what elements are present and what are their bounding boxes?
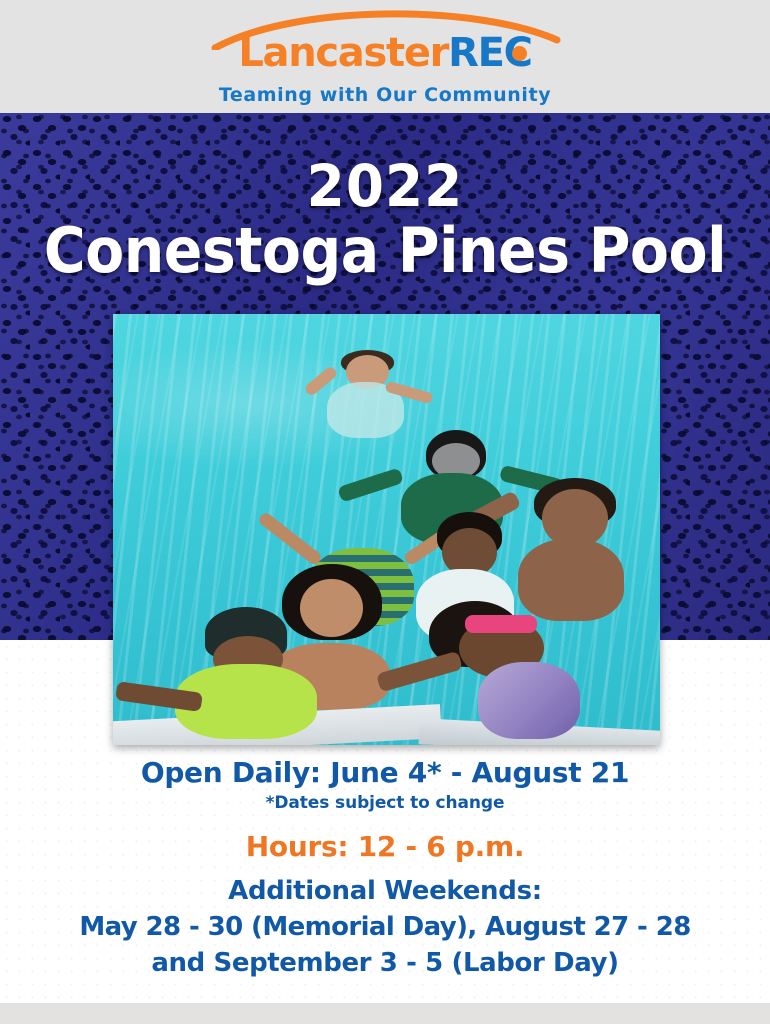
logo-re-text: RE [448, 30, 504, 76]
footer-band [0, 1003, 770, 1024]
orange-dot-icon [512, 46, 527, 61]
open-daily-line: Open Daily: June 4* - August 21 [0, 756, 770, 789]
torso [478, 662, 580, 739]
pool-flyer: LancasterREC Teaming with Our Community … [0, 0, 770, 1024]
hero-year: 2022 [0, 155, 770, 217]
header-band: LancasterREC Teaming with Our Community [0, 0, 770, 113]
additional-weekends-heading: Additional Weekends: [0, 876, 770, 906]
logo-lancaster-text: Lancaster [238, 30, 448, 76]
weekends-line-1: May 28 - 30 (Memorial Day), August 27 - … [0, 912, 770, 942]
hero-facility-name: Conestoga Pines Pool [0, 217, 770, 285]
swimmer-cap-lime-shirt [157, 607, 343, 736]
pool-photo [113, 314, 660, 745]
pink-goggles [465, 615, 537, 633]
tagline: Teaming with Our Community [0, 84, 770, 106]
hero-headline: 2022 Conestoga Pines Pool [0, 155, 770, 285]
swimmer-pink-goggles [419, 598, 583, 736]
logo-c-wrap: C [504, 30, 532, 76]
weekends-line-2: and September 3 - 5 (Labor Day) [0, 948, 770, 978]
hours-line: Hours: 12 - 6 p.m. [0, 830, 770, 863]
dates-note-line: *Dates subject to change [0, 793, 770, 813]
logo-wordmark: LancasterREC [205, 30, 565, 76]
lancaster-rec-logo: LancasterREC [205, 10, 565, 88]
